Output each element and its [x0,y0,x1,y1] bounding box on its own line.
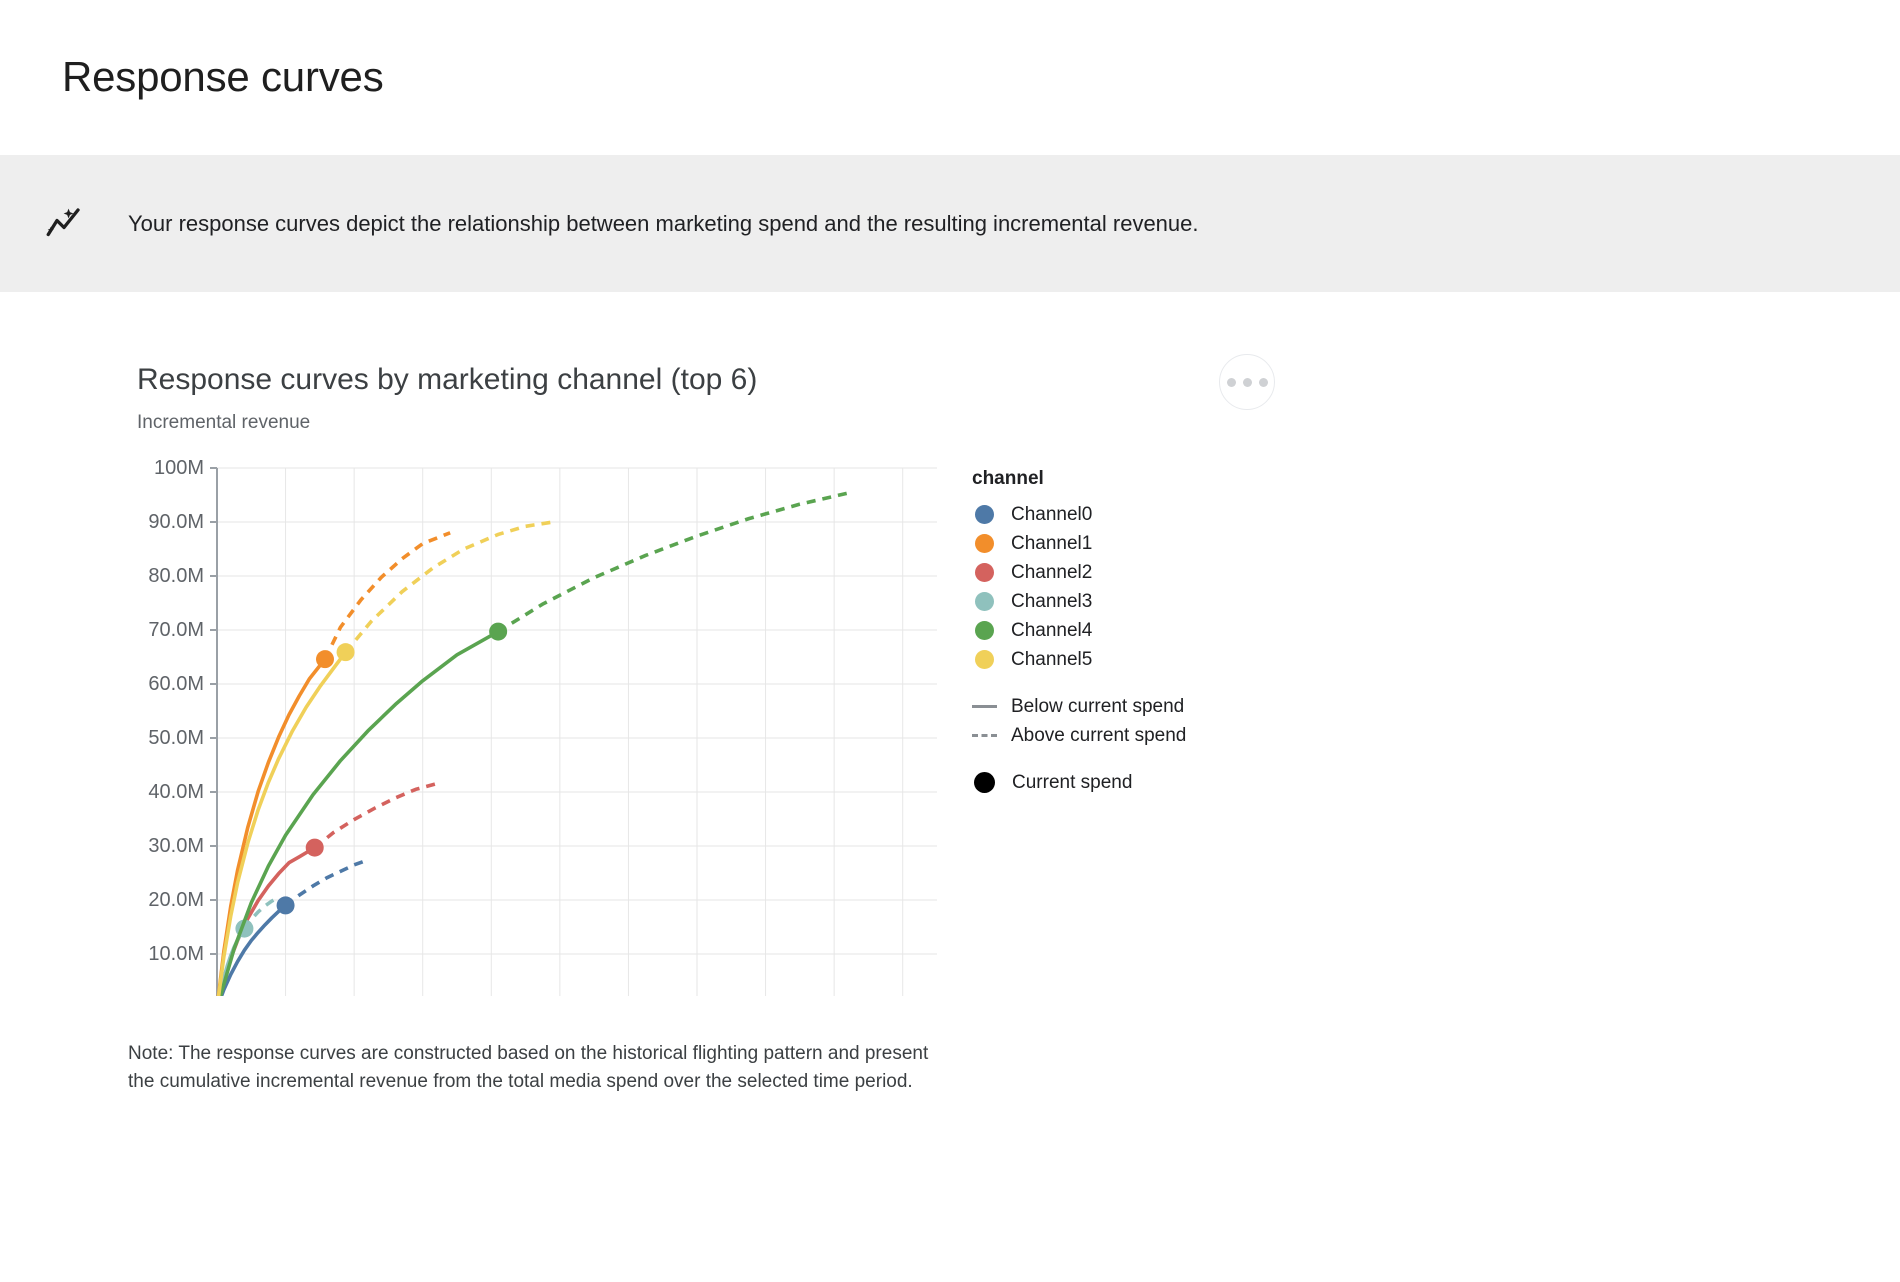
current-spend-marker[interactable] [316,650,334,668]
legend-item-dashed-line[interactable]: Above current spend [972,721,1292,750]
legend-item-label: Channel3 [1011,591,1092,613]
legend-item-channel3[interactable]: Channel3 [972,587,1292,616]
legend-item-channel0[interactable]: Channel0 [972,500,1292,529]
legend-item-current-spend[interactable]: Current spend [972,768,1292,797]
page-title: Response curves [62,54,384,100]
legend-item-channel5[interactable]: Channel5 [972,645,1292,674]
legend-swatch-icon [975,505,994,524]
legend-item-label: Current spend [1012,772,1132,794]
legend-item-channel4[interactable]: Channel4 [972,616,1292,645]
legend-item-label: Below current spend [1011,696,1184,718]
current-spend-marker-icon [974,772,995,793]
more-dot-2 [1243,378,1252,387]
y-tick-label: 60.0M [148,673,204,695]
legend-spacer-2 [972,750,1292,768]
legend-spacer [972,674,1292,692]
current-spend-marker[interactable] [306,839,324,857]
curve-above-current-spend [498,492,851,631]
curve-above-current-spend [315,783,440,848]
response-curves-card: Response curves by marketing channel (to… [0,292,1900,1095]
current-spend-marker[interactable] [489,623,507,641]
current-spend-marker[interactable] [277,896,295,914]
chart-subtitle: Incremental revenue [137,412,1237,434]
sparkle-trend-icon [42,202,86,246]
chart-header: Response curves by marketing channel (to… [137,362,1237,434]
legend-swatch-icon [975,563,994,582]
legend-item-label: Channel0 [1011,504,1092,526]
plot-area: 0.0010.0M20.0M30.0M40.0M50.0M60.0M70.0M8… [137,456,1437,996]
more-dot-1 [1227,378,1236,387]
legend-title: channel [972,468,1292,490]
solid-line-icon [972,705,997,708]
dashed-line-icon [972,734,997,737]
chart-note: Note: The response curves are constructe… [128,1040,958,1095]
y-tick-label: 100M [154,457,204,479]
y-tick-label: 40.0M [148,781,204,803]
y-tick-label: 20.0M [148,889,204,911]
curve-below-current-spend [217,632,498,996]
legend-channel-list: Channel0Channel1Channel2Channel3Channel4… [972,500,1292,674]
legend-item-label: Above current spend [1011,725,1186,747]
legend-item-label: Channel1 [1011,533,1092,555]
y-tick-label: 90.0M [148,511,204,533]
legend-swatch-icon [975,621,994,640]
legend-item-channel1[interactable]: Channel1 [972,529,1292,558]
more-options-button[interactable] [1219,354,1275,410]
chart-legend: channel Channel0Channel1Channel2Channel3… [972,468,1292,797]
y-tick-label: 80.0M [148,565,204,587]
info-banner-text: Your response curves depict the relation… [128,209,1199,239]
chart-title: Response curves by marketing channel (to… [137,362,1237,398]
legend-style-list: Below current spendAbove current spend [972,692,1292,750]
curve-above-current-spend [325,533,450,659]
y-tick-label: 30.0M [148,835,204,857]
legend-swatch-icon [975,592,994,611]
more-dot-3 [1259,378,1268,387]
series-channel4 [217,492,851,996]
legend-item-solid-line[interactable]: Below current spend [972,692,1292,721]
y-tick-label: 10.0M [148,943,204,965]
y-tick-label: 70.0M [148,619,204,641]
legend-item-label: Channel5 [1011,649,1092,671]
legend-item-label: Channel4 [1011,620,1092,642]
legend-swatch-icon [975,650,994,669]
curve-above-current-spend [286,861,365,905]
legend-item-label: Channel2 [1011,562,1092,584]
page-header: Response curves [0,0,1900,155]
curve-above-current-spend [346,522,553,652]
legend-swatch-icon [975,534,994,553]
legend-item-channel2[interactable]: Channel2 [972,558,1292,587]
y-tick-label: 50.0M [148,727,204,749]
current-spend-marker[interactable] [337,643,355,661]
info-banner: Your response curves depict the relation… [0,155,1900,292]
